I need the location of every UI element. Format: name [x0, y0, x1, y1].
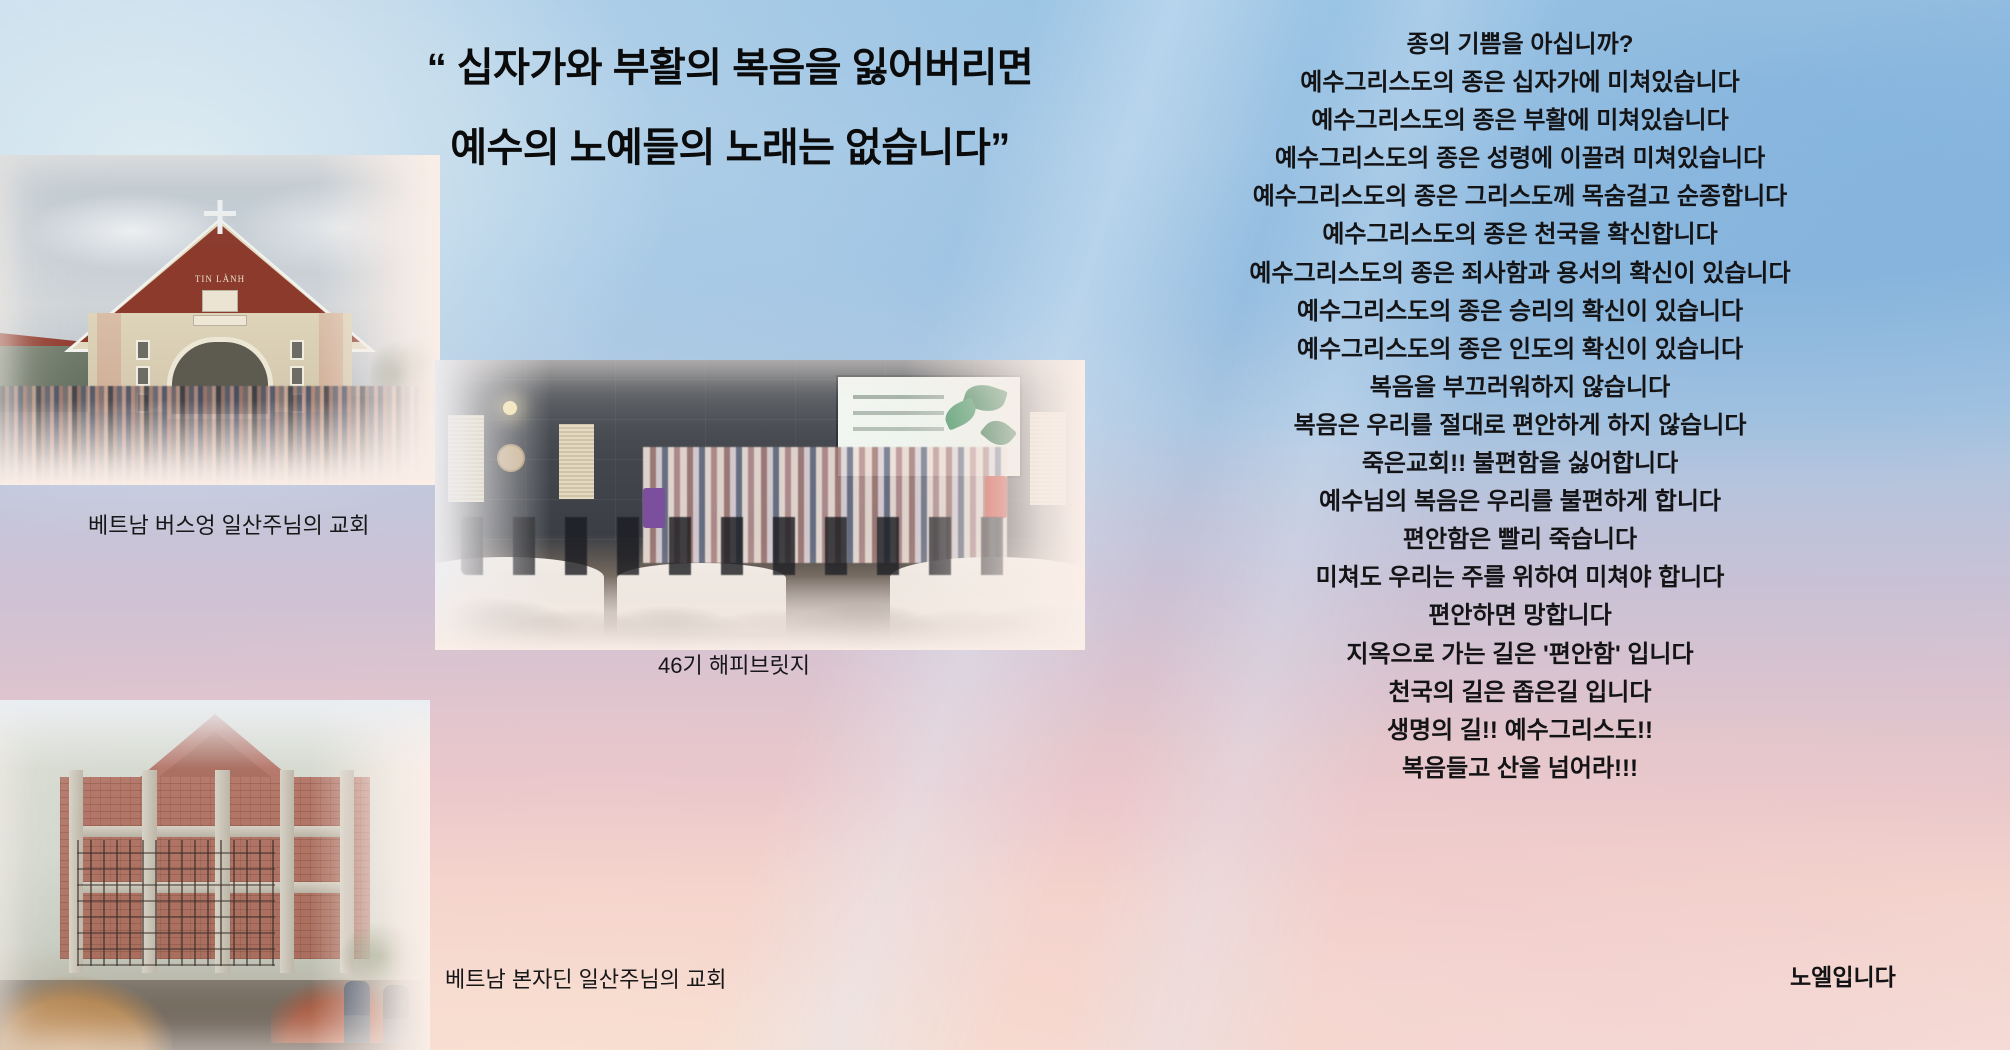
verse-line: 종의 기쁨을 아십니까? — [1150, 26, 1890, 64]
headline-quote: “ 십자가와 부활의 복음을 잃어버리면 예수의 노예들의 노래는 없습니다” — [330, 28, 1130, 188]
window — [290, 340, 304, 360]
verse-line: 복음을 부끄러워하지 않습니다 — [1150, 369, 1890, 407]
photo-church-construction — [0, 700, 430, 1050]
verse-line: 예수그리스도의 종은 십자가에 미쳐있습니다 — [1150, 64, 1890, 102]
sand-pile — [0, 959, 172, 1050]
photo-ceremony-hall — [435, 360, 1085, 650]
headline-line-1: “ 십자가와 부활의 복음을 잃어버리면 — [330, 28, 1130, 108]
worker-figure — [383, 985, 409, 1043]
leaf-graphic — [941, 397, 980, 430]
photo-church-exterior: TIN LÀNH — [0, 155, 440, 485]
verse-line: 예수그리스도의 종은 죄사함과 용서의 확신이 있습니다 — [1150, 255, 1890, 293]
verse-line: 생명의 길!! 예수그리스도!! — [1150, 712, 1890, 750]
headline-line-2: 예수의 노예들의 노래는 없습니다” — [330, 108, 1130, 188]
verse-line: 지옥으로 가는 길은 '편안함' 입니다 — [1150, 636, 1890, 674]
verse-line: 예수그리스도의 종은 부활에 미쳐있습니다 — [1150, 102, 1890, 140]
cross-icon — [218, 200, 223, 234]
window-blind — [559, 424, 595, 499]
verse-line: 복음은 우리를 절대로 편안하게 하지 않습니다 — [1150, 407, 1890, 445]
verse-line: 편안함은 빨리 죽습니다 — [1150, 521, 1890, 559]
verse-line: 예수그리스도의 종은 그리스도께 목숨걸고 순종합니다 — [1150, 178, 1890, 216]
church-sign-text: TIN LÀNH — [195, 274, 245, 284]
caption-ceremony: 46기 해피브릿지 — [658, 648, 810, 680]
verse-text-block: 종의 기쁨을 아십니까? 예수그리스도의 종은 십자가에 미쳐있습니다 예수그리… — [1150, 26, 1890, 788]
scaffolding — [77, 840, 275, 966]
wall-lamp — [503, 401, 517, 415]
verse-line: 예수그리스도의 종은 승리의 확신이 있습니다 — [1150, 293, 1890, 331]
window-blind — [448, 415, 484, 502]
screen-text-lines — [853, 395, 944, 399]
seated-audience — [435, 522, 1085, 650]
worker-figure — [344, 981, 370, 1043]
verse-line: 미쳐도 우리는 주를 위하여 미쳐야 합니다 — [1150, 559, 1890, 597]
window-blind — [1030, 412, 1066, 505]
window — [136, 340, 150, 360]
verse-line: 예수그리스도의 종은 인도의 확신이 있습니다 — [1150, 331, 1890, 369]
verse-line: 예수님의 복음은 우리를 불편하게 합니다 — [1150, 483, 1890, 521]
cross-icon — [204, 211, 236, 216]
verse-line: 예수그리스도의 종은 성령에 이끌려 미쳐있습니다 — [1150, 140, 1890, 178]
leaf-graphic — [979, 414, 1017, 451]
concrete-column — [280, 770, 295, 973]
church-sign-plate — [193, 315, 247, 326]
caption-church-exterior: 베트남 버스엉 일산주님의 교회 — [88, 508, 369, 540]
verse-line: 편안하면 망합니다 — [1150, 597, 1890, 635]
verse-line: 천국의 길은 좁은길 입니다 — [1150, 674, 1890, 712]
verse-line: 예수그리스도의 종은 천국을 확신합니다 — [1150, 216, 1890, 254]
caption-church-construction: 베트남 본자딘 일산주님의 교회 — [445, 962, 726, 994]
poster-canvas: TIN LÀNH — [0, 0, 2010, 1050]
verse-line: 죽은교회!! 불편함을 싫어합니다 — [1150, 445, 1890, 483]
congregation-crowd — [0, 386, 440, 485]
author-signature: 노엘입니다 — [1790, 958, 1896, 992]
verse-line: 복음들고 산을 넘어라!!! — [1150, 750, 1890, 788]
church-sign-plate — [202, 290, 238, 312]
person-red-apron — [985, 476, 1007, 518]
wall-clock — [497, 444, 525, 472]
